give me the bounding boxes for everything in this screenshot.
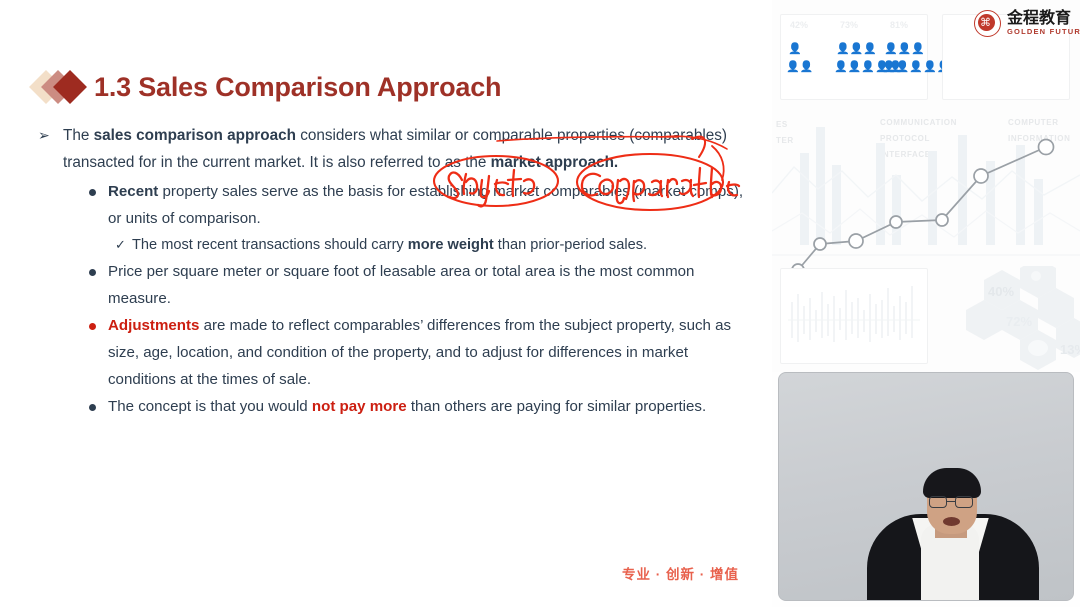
- video-scene: [779, 373, 1073, 600]
- decorative-graphics-collage: 42% 73% 81% 👤 👤👤👤 👤👤👤 👤👤 👤👤👤👤👤 👤👤👤👤👤 ES …: [772, 0, 1080, 372]
- bullet-level2-text: Recent property sales serve as the basis…: [108, 183, 743, 227]
- faint-percent-label: 42%: [790, 20, 808, 30]
- person-pictogram-icon: 👤👤👤: [836, 44, 877, 55]
- arrow-marker-icon: ➢: [38, 122, 50, 149]
- page-title: 1.3 Sales Comparison Approach: [94, 72, 501, 103]
- seal-icon: [974, 10, 1001, 37]
- text-run-bold: more weight: [408, 237, 494, 253]
- presenter-mouth: [943, 517, 960, 526]
- text-run-underlined: similar or comparable: [406, 127, 552, 144]
- text-run: than prior-period sales.: [494, 237, 647, 253]
- person-pictogram-icon: 👤👤👤: [884, 44, 925, 55]
- brand-logo-text: 金程教育 GOLDEN FUTURE: [1007, 11, 1080, 36]
- text-run: The most recent transactions should carr…: [132, 237, 408, 253]
- text-run: The concept is that you would: [108, 398, 312, 415]
- brand-name-cn: 金程教育: [1007, 11, 1080, 28]
- bullet-level2-text: The concept is that you would not pay mo…: [108, 398, 706, 415]
- text-run: property sales serve as the basis for es…: [108, 183, 743, 227]
- bullet-level2-group: Recent property sales serve as the basis…: [89, 178, 752, 420]
- glasses-lens-left: [929, 496, 947, 508]
- glasses-lens-right: [955, 496, 973, 508]
- text-run: considers what: [296, 127, 407, 144]
- dot-marker-icon: [89, 189, 96, 196]
- brand-name-en: GOLDEN FUTURE: [1007, 28, 1080, 36]
- brand-logo: 金程教育 GOLDEN FUTURE: [974, 10, 1080, 37]
- text-run: than others are paying for similar prope…: [407, 398, 707, 415]
- bullet-level2-price: Price per square meter or square foot of…: [89, 258, 752, 312]
- presenter-video-feed[interactable]: [779, 373, 1073, 600]
- text-run-red-bold: Adjustments: [108, 317, 199, 334]
- bullet-level3-text: The most recent transactions should carr…: [132, 237, 647, 253]
- text-run-red-bold: not pay more: [312, 398, 407, 415]
- candlestick-graphic: [786, 276, 922, 356]
- dot-marker-red-icon: [89, 323, 96, 330]
- text-run: The: [63, 127, 94, 144]
- check-marker-icon: ✓: [115, 232, 126, 258]
- line-chart-graphic: [772, 105, 1080, 280]
- person-pictogram-icon: 👤👤👤👤👤: [882, 62, 950, 73]
- text-run-bold: market approach.: [491, 154, 619, 171]
- bullet-level1-text: The sales comparison approach considers …: [63, 127, 727, 171]
- svg-text:40%: 40%: [988, 284, 1014, 299]
- slide-content-area: 1.3 Sales Comparison Approach ➢ The sale…: [0, 0, 772, 607]
- slide-body: ➢ The sales comparison approach consider…: [36, 122, 752, 420]
- person-pictogram-icon: 👤: [788, 44, 802, 55]
- bullet-level2-recent: Recent property sales serve as the basis…: [89, 178, 752, 232]
- text-run-bold: sales comparison approach: [94, 127, 296, 144]
- glasses-bridge: [947, 501, 955, 502]
- footer-tagline: 专业 · 创新 · 增值: [622, 563, 739, 583]
- dot-marker-icon: [89, 404, 96, 411]
- bullet-level1: ➢ The sales comparison approach consider…: [36, 122, 752, 176]
- dot-marker-icon: [89, 269, 96, 276]
- diamond-decoration-icon: [34, 70, 90, 104]
- bullet-level3-group: ✓ The most recent transactions should ca…: [115, 232, 752, 258]
- faint-percent-label: 73%: [840, 20, 858, 30]
- presenter-hair: [923, 468, 981, 498]
- text-run-bold: Recent: [108, 183, 158, 200]
- faint-percent-label: 81%: [890, 20, 908, 30]
- bullet-level3-weight: ✓ The most recent transactions should ca…: [115, 232, 752, 258]
- glasses-icon: [929, 496, 975, 508]
- person-pictogram-icon: 👤👤: [786, 62, 813, 73]
- svg-text:13%: 13%: [1060, 342, 1080, 357]
- svg-text:72%: 72%: [1006, 314, 1032, 329]
- text-run: are made to reflect comparables’ differe…: [108, 317, 731, 388]
- hexagon-graphic: 40% 72% 13%: [954, 266, 1080, 372]
- presentation-screen: 1.3 Sales Comparison Approach ➢ The sale…: [0, 0, 1080, 607]
- bullet-level2-adjustments: Adjustments are made to reflect comparab…: [89, 312, 752, 393]
- slide-title-row: 1.3 Sales Comparison Approach: [34, 64, 501, 110]
- bullet-level2-concept: The concept is that you would not pay mo…: [89, 393, 752, 420]
- bullet-level2-text: Adjustments are made to reflect comparab…: [108, 317, 731, 388]
- bullet-level2-text: Price per square meter or square foot of…: [108, 263, 694, 307]
